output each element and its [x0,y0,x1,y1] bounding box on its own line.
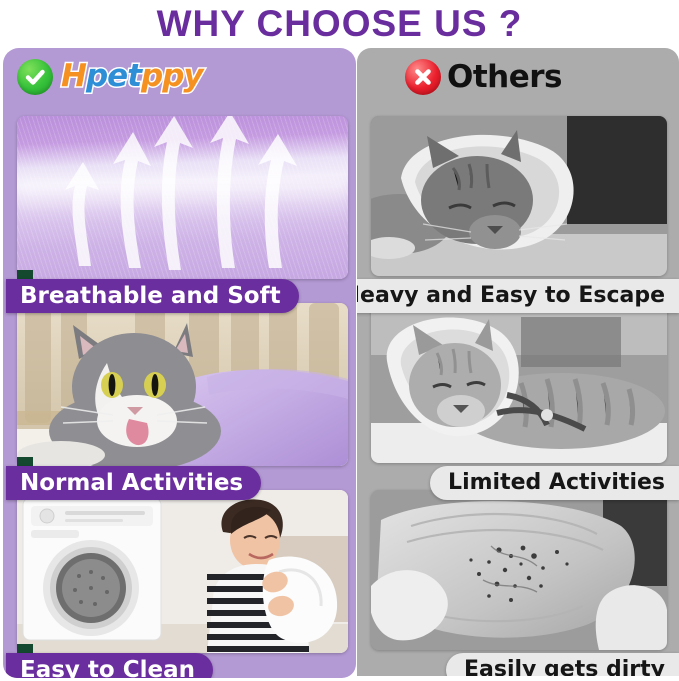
brand-logo-letter: p [162,58,183,94]
purple-fabric-texture [17,116,348,279]
others-image-easily-dirty [371,490,667,650]
check-circle-icon [17,59,53,95]
feature-caption-easy-to-clean: Easy to Clean [6,653,213,678]
airflow-arrows-icon [17,116,348,279]
others-image-heavy-escape [371,116,667,276]
others-title: Others [447,62,562,93]
brand-header-row: Hpetppy [3,48,356,106]
others-header-row: Others [357,48,679,106]
others-panel: Others [357,48,679,676]
brand-logo: Hpetppy [61,61,203,92]
page-title-bar: WHY CHOOSE US ? [0,0,679,48]
cat-in-recovery-suit-photo [17,303,348,466]
x-circle-icon [405,59,441,95]
others-caption-easily-dirty: Easily gets dirty [446,653,679,676]
comparison-area: Hpetppy Breathable and Soft [0,48,679,681]
cat-cone-collar-photo [371,116,667,276]
page-title: WHY CHOOSE US ? [157,3,523,45]
others-caption-limited-activities: Limited Activities [430,466,679,500]
others-image-limited-activities [371,303,667,463]
brand-logo-letter: H [61,58,86,94]
feature-image-normal-activities [17,303,348,466]
others-caption-heavy-escape: Heavy and Easy to Escape [357,279,679,313]
laundry-scene-photo [17,490,348,653]
brand-logo-letter: p [141,58,162,94]
brand-logo-letter: e [107,58,127,94]
feature-caption-normal-activities: Normal Activities [6,466,261,500]
feature-image-easy-to-clean [17,490,348,653]
tabby-cat-cone-photo [371,303,667,463]
feature-caption-breathable: Breathable and Soft [6,279,299,313]
brand-logo-letter: y [183,58,202,94]
brand-logo-letter: t [127,58,141,94]
brand-panel: Hpetppy Breathable and Soft [3,48,356,678]
feature-image-breathable [17,116,348,279]
soiled-fabric-photo [371,490,667,650]
brand-logo-letter: p [86,58,107,94]
